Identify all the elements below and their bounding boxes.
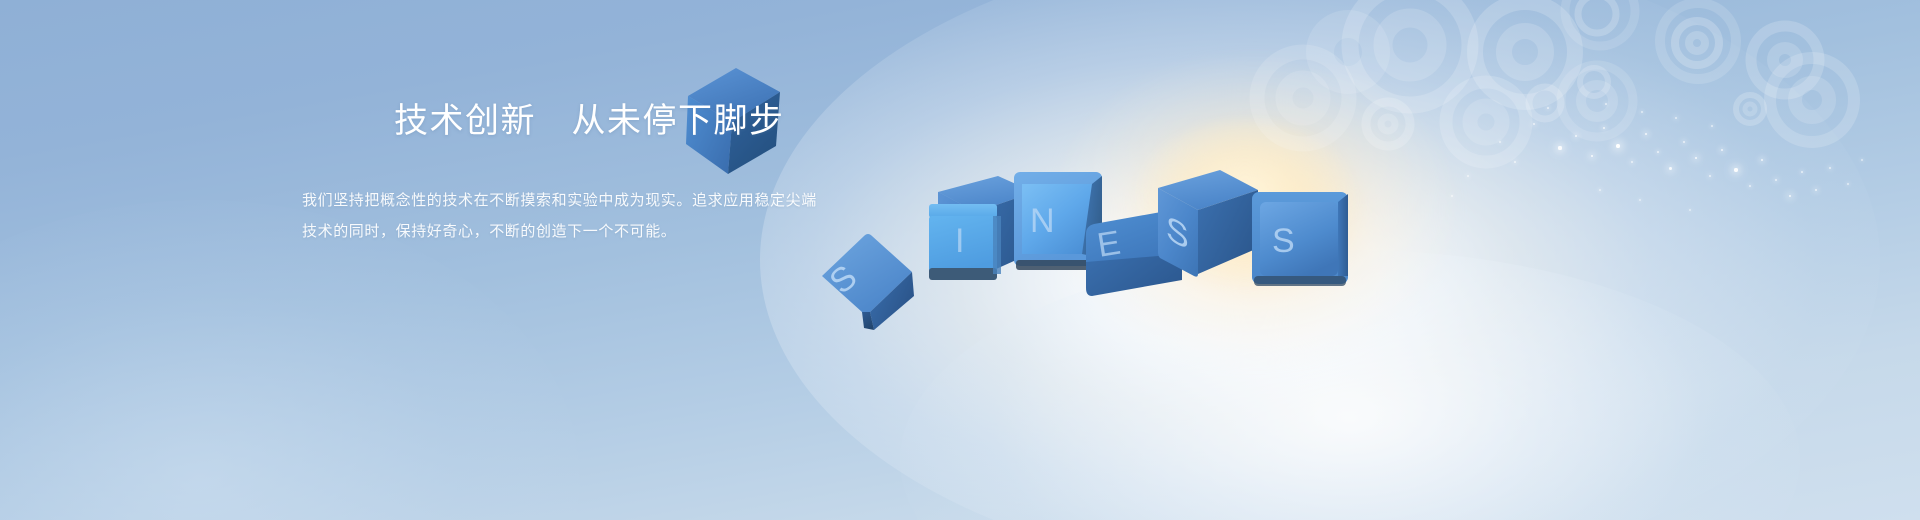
keycap-group: U S: [0, 0, 1920, 520]
svg-text:S: S: [1272, 222, 1295, 260]
hero-description-line-1: 我们坚持把概念性的技术在不断摸索和实验中成为现实。追求应用稳定尖端: [302, 185, 862, 216]
svg-text:N: N: [1030, 202, 1055, 240]
keycap-s-right: S: [1250, 190, 1356, 290]
hero-banner: U S: [0, 0, 1920, 520]
hero-description: 我们坚持把概念性的技术在不断摸索和实验中成为现实。追求应用稳定尖端 技术的同时，…: [302, 185, 862, 247]
hero-copy: 技术创新 从未停下脚步 我们坚持把概念性的技术在不断摸索和实验中成为现实。追求应…: [302, 100, 1002, 247]
page-title: 技术创新 从未停下脚步: [394, 100, 1002, 143]
keycap-s-mid: S: [1152, 168, 1264, 283]
hero-description-line-2: 技术的同时，保持好奇心，不断的创造下一个不可能。: [302, 216, 862, 247]
